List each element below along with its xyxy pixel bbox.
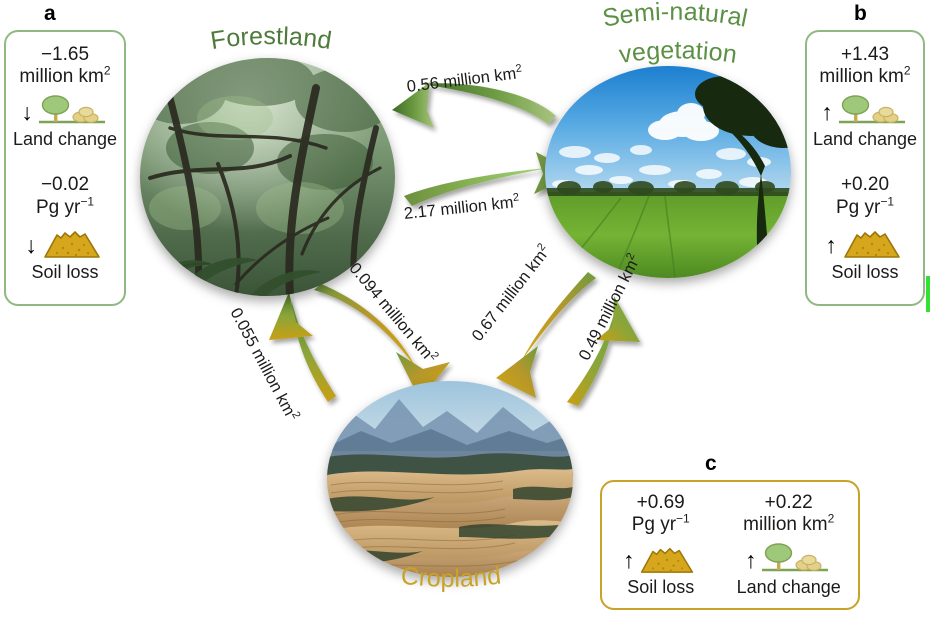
soil-loss-icon	[839, 226, 905, 260]
svg-text:vegetation: vegetation	[617, 36, 739, 69]
node-title-semi-natural: Semi-natural vegetation	[530, 0, 820, 68]
flow-value-semi-to-forest: 0.56 million km	[406, 65, 517, 96]
svg-text:Semi-natural: Semi-natural	[600, 0, 750, 33]
panel-c-soil-loss-unit-sup: −1	[676, 512, 690, 526]
panel-a-soil-loss-direction-icon: ↓	[25, 234, 37, 257]
panel-b-land-change-unit: million km	[819, 66, 903, 87]
flow-value-forest-to-semi: 2.17 million km	[403, 194, 514, 223]
panel-c-soil-loss-value: +0.69	[637, 492, 685, 513]
panel-b-soil-loss-unit: Pg yr	[836, 197, 880, 218]
panel-a-soil-loss-value: −0.02	[41, 174, 89, 195]
panel-b-soil-loss-unit-sup: −1	[880, 194, 894, 208]
flow-unit-semi-to-forest: 2	[515, 62, 523, 75]
panel-b-land-change-direction-icon: ↑	[821, 101, 833, 124]
edge-artifact	[926, 276, 930, 312]
panel-c-metric-land-change: +0.22 million km2 ↑ Land change	[719, 492, 858, 608]
panel-a-soil-loss-unit: Pg yr	[36, 197, 80, 218]
panel-c: +0.69 Pg yr−1 ↑ Soil loss +0	[600, 480, 860, 610]
panel-b-metric-land-change: +1.43 million km2 ↑ Land change	[807, 44, 923, 150]
panel-c-land-change-unit: million km	[743, 514, 827, 535]
flow-label-forest-to-crop: 0.094 million km2	[345, 259, 440, 367]
forestland-label: Forestland	[209, 22, 334, 55]
panel-letter-a: a	[44, 2, 56, 26]
flow-label-crop-to-forest: 0.055 million km2	[226, 305, 302, 425]
panel-a-land-change-value: −1.65	[41, 44, 89, 65]
soil-loss-icon	[39, 226, 105, 260]
soil-loss-icon	[636, 543, 698, 575]
panel-c-land-change-unit-sup: 2	[828, 512, 835, 526]
flow-value-semi-to-crop: 0.67 million km	[469, 247, 551, 345]
panel-letter-c: c	[705, 452, 717, 476]
panel-a-soil-loss-label: Soil loss	[6, 262, 124, 283]
panel-c-metric-soil-loss: +0.69 Pg yr−1 ↑ Soil loss	[602, 492, 719, 608]
panel-c-land-change-direction-icon: ↑	[745, 549, 757, 572]
semi-natural-illustration	[545, 66, 791, 278]
panel-b-land-change-value: +1.43	[841, 44, 889, 65]
svg-text:Forestland: Forestland	[209, 22, 334, 55]
panel-a-metric-land-change: −1.65 million km2 ↓ Land change	[6, 44, 124, 150]
panel-b-soil-loss-value: +0.20	[841, 174, 889, 195]
panel-b-land-change-unit-sup: 2	[904, 64, 911, 78]
land-change-icon	[758, 543, 832, 575]
panel-c-land-change-label: Land change	[719, 577, 858, 598]
land-change-icon	[35, 95, 109, 127]
panel-a-land-change-unit: million km	[19, 66, 103, 87]
flow-label-crop-to-semi: 0.49 million km2	[576, 252, 646, 364]
flow-value-crop-to-forest: 0.055 million km	[226, 305, 298, 419]
panel-b-soil-loss-direction-icon: ↑	[825, 234, 837, 257]
node-photo-semi-natural	[545, 66, 791, 278]
flow-label-semi-to-crop: 0.67 million km2	[469, 242, 555, 345]
flow-label-semi-to-forest: 0.56 million km2	[406, 64, 524, 97]
flow-value-crop-to-semi: 0.49 million km	[576, 257, 642, 363]
panel-a-land-change-label: Land change	[6, 129, 124, 150]
semi-natural-label-line2: vegetation	[617, 36, 739, 69]
flow-label-forest-to-semi: 2.17 million km2	[403, 193, 521, 224]
semi-natural-label-line1: Semi-natural	[600, 0, 750, 33]
cropland-illustration	[327, 381, 573, 577]
panel-a-metric-soil-loss: −0.02 Pg yr−1 ↓ Soil loss	[6, 174, 124, 282]
panel-a-soil-loss-unit-sup: −1	[80, 194, 94, 208]
panel-c-soil-loss-unit: Pg yr	[632, 514, 676, 535]
panel-c-soil-loss-label: Soil loss	[602, 577, 719, 598]
panel-a: −1.65 million km2 ↓ Land change −0.02 P	[4, 30, 126, 306]
panel-b-metric-soil-loss: +0.20 Pg yr−1 ↑ Soil loss	[807, 174, 923, 282]
panel-a-land-change-unit-sup: 2	[104, 64, 111, 78]
panel-c-land-change-value: +0.22	[765, 492, 813, 513]
flow-value-forest-to-crop: 0.094 million km	[345, 259, 435, 362]
panel-letter-b: b	[854, 2, 867, 26]
panel-b-land-change-label: Land change	[807, 129, 923, 150]
panel-b-soil-loss-label: Soil loss	[807, 262, 923, 283]
panel-b: +1.43 million km2 ↑ Land change +0.20 P	[805, 30, 925, 306]
panel-c-soil-loss-direction-icon: ↑	[623, 549, 635, 572]
land-change-icon	[835, 95, 909, 127]
node-photo-cropland	[327, 381, 573, 577]
panel-a-land-change-direction-icon: ↓	[21, 101, 33, 124]
flow-unit-forest-to-semi: 2	[512, 191, 519, 204]
